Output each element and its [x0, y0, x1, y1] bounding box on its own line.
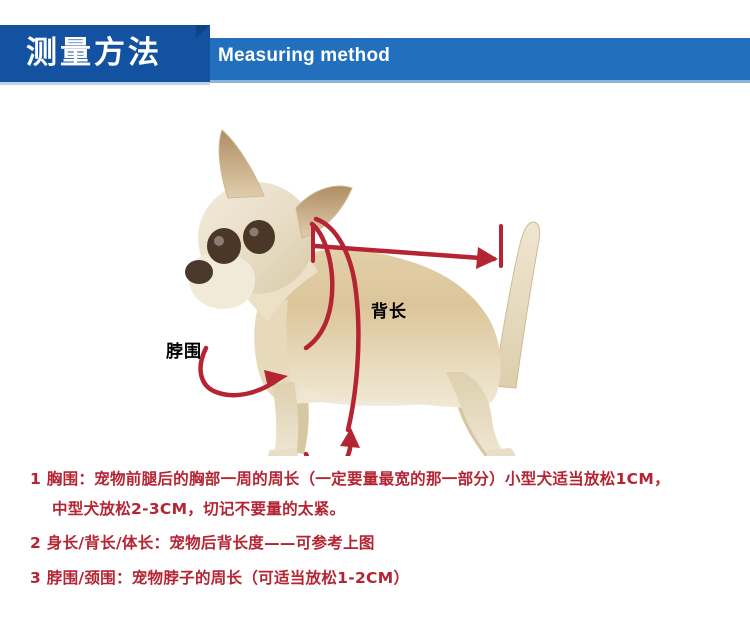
- ribbon-fold-corner-icon: [196, 25, 210, 38]
- dog-front-leg-near: [272, 382, 298, 456]
- dog-eye-near: [207, 228, 241, 264]
- dog-eye-highlight: [214, 236, 224, 246]
- header-banner: 测量方法 Measuring method: [0, 0, 750, 90]
- dog-front-paw: [268, 448, 298, 456]
- page-title-chinese: 测量方法: [26, 29, 162, 77]
- back-length-label: 背长: [371, 297, 407, 322]
- back-length-arrowhead: [476, 247, 498, 269]
- ribbon-right-bar-shadow: [196, 80, 750, 83]
- instruction-line-2: 2 身长/背长/体长：宠物后背长度——可参考上图: [30, 531, 375, 553]
- ribbon-left-underline: [0, 82, 210, 85]
- instruction-line-3: 3 脖围/颈围：宠物脖子的周长（可适当放松1-2CM）: [30, 566, 409, 588]
- dog-nose: [185, 260, 213, 284]
- instruction-line-1-part-2: 中型犬放松2-3CM，切记不要量的太紧。: [52, 497, 345, 519]
- neck-girth-label: 脖围: [166, 337, 202, 362]
- page-title-english: Measuring method: [218, 45, 390, 67]
- dog-ear-right: [296, 186, 352, 238]
- measuring-diagram: 背长 脖围 胸围: [0, 86, 750, 456]
- dog-eye-far: [243, 220, 275, 254]
- instructions-block: 1 胸围：宠物前腿后的胸部一周的周长（一定要量最宽的那一部分）小型犬适当放松1C…: [0, 456, 750, 623]
- dog-photo-illustration: [0, 86, 750, 456]
- dog-ear-left: [219, 130, 264, 198]
- dog-eye-far-highlight: [250, 228, 259, 237]
- instruction-line-1-part-1: 1 胸围：宠物前腿后的胸部一周的周长（一定要量最宽的那一部分）小型犬适当放松1C…: [30, 467, 670, 489]
- chest-girth-arrowhead: [340, 428, 360, 448]
